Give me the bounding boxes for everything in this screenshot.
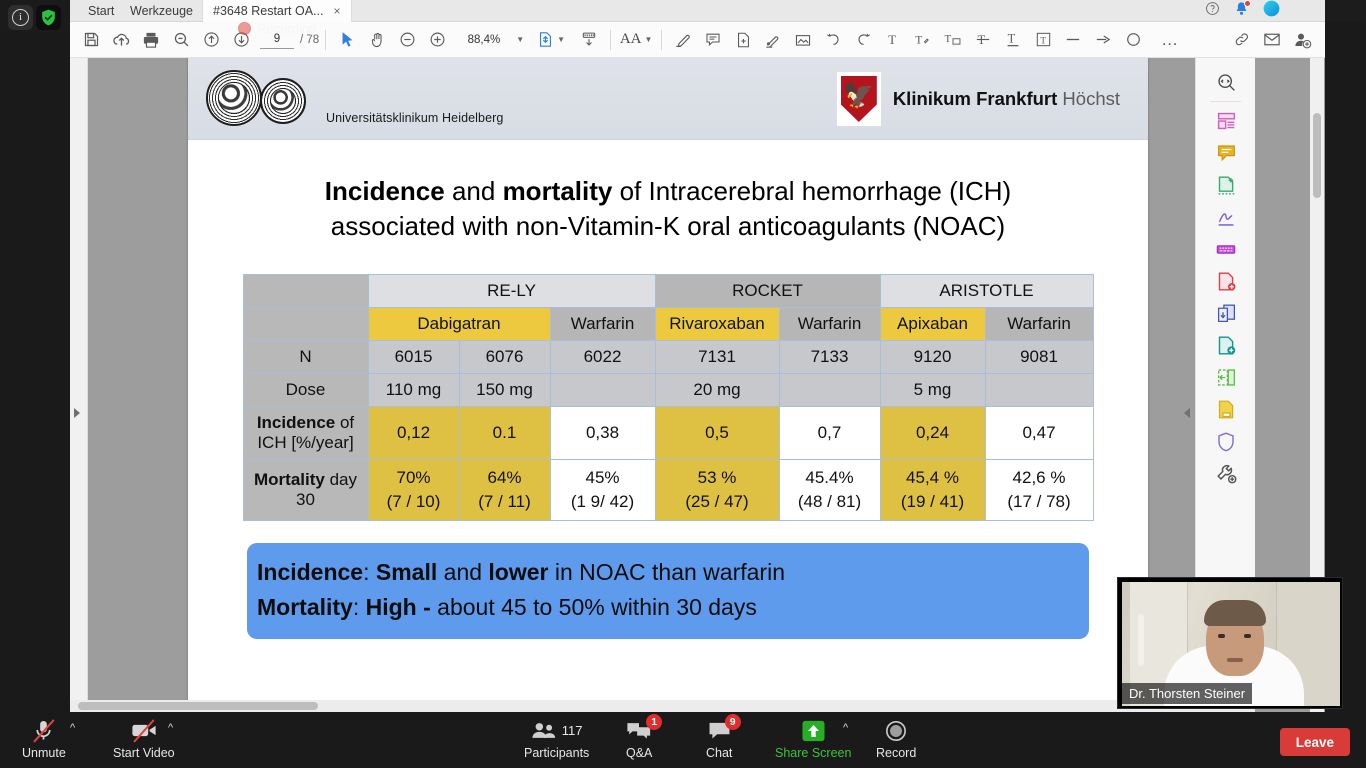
svg-text:T: T [1008, 32, 1016, 46]
summary-colon-1: : [363, 559, 376, 585]
security-shield-button[interactable] [36, 5, 61, 30]
summary-incidence-label: Incidence [257, 559, 363, 585]
drug-apixaban: Apixaban [880, 308, 985, 341]
tab-start-label: Start [88, 4, 114, 18]
draw-icon[interactable] [758, 25, 788, 55]
combine-files-icon[interactable] [1196, 297, 1256, 329]
email-icon[interactable] [1257, 25, 1287, 55]
undo-icon[interactable] [818, 25, 848, 55]
screen-root: i You are viewing Dr. Thorsten Steiner's… [0, 0, 1366, 768]
table-row-drugs: Dabigatran Warfarin Rivaroxaban Warfarin… [243, 308, 1093, 341]
chevron-down-icon: ▼ [557, 35, 565, 44]
dose-warfarin-rely [550, 374, 655, 407]
university-name: Universitätsklinikum Heidelberg [326, 111, 503, 125]
tab-start[interactable]: Start [78, 0, 124, 22]
unmute-label: Unmute [22, 746, 66, 760]
incidence-warfarin-aristotle: 0,47 [985, 407, 1093, 460]
dose-dabigatran-150: 150 mg [459, 374, 550, 407]
stamp-tool-icon[interactable] [1196, 393, 1256, 425]
incidence-warfarin-rocket: 0,7 [779, 407, 880, 460]
line-shape-icon[interactable] [1058, 25, 1088, 55]
zoom-level-value: 88,4% [462, 34, 500, 46]
summary-and: and [437, 559, 488, 585]
mortality-pct: 64% [462, 466, 548, 490]
more-tools-panel-icon[interactable] [1196, 457, 1256, 489]
heidelberg-seal-secondary-icon [260, 78, 306, 124]
chat-label: Chat [706, 746, 732, 760]
mortality-rivaroxaban: 53 % (25 / 47) [655, 460, 779, 521]
svg-text:T: T [915, 33, 922, 46]
summary-callout: Incidence: Small and lower in NOAC than … [247, 543, 1089, 639]
mortality-warfarin-rocket: 45.4% (48 / 81) [779, 460, 880, 521]
shield-check-icon [39, 8, 58, 27]
underline-icon[interactable]: T [998, 25, 1028, 55]
mortality-pct: 45,4 % [883, 466, 983, 490]
more-tools-label: … [1161, 30, 1179, 50]
title-mid: and [445, 176, 503, 206]
next-page-icon[interactable] [226, 25, 256, 55]
svg-text:T: T [945, 33, 952, 45]
info-icon: i [12, 9, 29, 26]
trial-header-aristotle: ARISTOTLE [880, 275, 1093, 308]
n-rivaroxaban: 7131 [655, 341, 779, 374]
info-button[interactable]: i [8, 5, 33, 30]
chat-badge: 9 [725, 714, 741, 730]
tab-document[interactable]: #3648 Restart OA... × [202, 0, 352, 22]
notification-bell-icon[interactable] [1234, 1, 1249, 22]
tab-document-label: #3648 Restart OA... [213, 4, 323, 18]
panel-divider [1210, 101, 1241, 102]
tab-werkzeuge-label: Werkzeuge [130, 4, 193, 18]
close-icon[interactable]: × [333, 4, 340, 18]
chevron-down-icon: ▼ [516, 35, 524, 44]
expand-left-panel-icon[interactable] [74, 408, 80, 418]
attach-image-icon[interactable] [788, 25, 818, 55]
summary-line-2: Mortality: High - about 45 to 50% within… [257, 590, 1079, 625]
drug-rivaroxaban: Rivaroxaban [655, 308, 779, 341]
summary-mortality-label: Mortality [257, 594, 353, 620]
video-options-chevron-icon[interactable]: ^ [168, 722, 173, 768]
klinikum-name-light: Höchst [1062, 88, 1120, 109]
pdf-toolbar: 9 / 78 88,4% ▼ [70, 22, 1325, 58]
drug-warfarin-3: Warfarin [985, 308, 1093, 341]
n-dabigatran-110: 6015 [368, 341, 459, 374]
trial-header-rely: RE-LY [368, 275, 655, 308]
mortality-ratio: (7 / 10) [371, 490, 457, 514]
klinikum-shield-icon: 🦅 [837, 72, 881, 126]
avatar[interactable] [1263, 0, 1280, 22]
qa-badge: 1 [646, 714, 662, 730]
mortality-pct: 70% [371, 466, 457, 490]
mortality-pct: 45% [553, 466, 653, 490]
page-number-input[interactable]: 9 [260, 30, 294, 49]
qa-label: Q&A [626, 746, 652, 760]
horizontal-scrollbar[interactable] [70, 700, 1255, 712]
title-bold-incidence: Incidence [325, 176, 445, 206]
title-rest: of Intracerebral hemorrhage (ICH) [612, 176, 1011, 206]
table-row-n: N 6015 6076 6022 7131 7133 9120 9081 [243, 341, 1093, 374]
mortality-ratio: (25 / 47) [658, 490, 777, 514]
pdf-page: Universitätsklinikum Heidelberg 🦅 Klinik… [188, 58, 1148, 712]
klinikum-name-bold: Klinikum Frankfurt [893, 88, 1057, 109]
row-header-mortality-bold: Mortality [254, 470, 325, 489]
chevron-down-icon: ▼ [644, 35, 652, 44]
add-text-icon[interactable]: T [878, 25, 908, 55]
share-screen-button[interactable]: Share Screen [775, 718, 851, 764]
mortality-ratio: (17 / 78) [988, 490, 1091, 514]
window-corner-controls: i [0, 0, 70, 32]
highlight-icon[interactable] [668, 25, 698, 55]
dose-dabigatran-110: 110 mg [368, 374, 459, 407]
protect-icon[interactable] [1196, 425, 1256, 457]
row-header-incidence-bold: Incidence [257, 413, 335, 432]
toolbar-divider [325, 30, 326, 50]
share-link-icon[interactable] [1227, 25, 1257, 55]
tab-werkzeuge[interactable]: Werkzeuge [120, 0, 203, 22]
mortality-pct: 45.4% [782, 466, 878, 490]
export-pdf-icon[interactable] [1196, 169, 1256, 201]
participants-icon: 117 [531, 718, 583, 743]
incidence-dabigatran-150: 0.1 [459, 407, 550, 460]
drug-dabigatran: Dabigatran [368, 308, 550, 341]
toolbar-divider [610, 30, 611, 50]
mortality-ratio: (1 9/ 42) [553, 490, 653, 514]
summary-rest-2: about 45 to 50% within 30 days [431, 594, 757, 620]
slide-header: Universitätsklinikum Heidelberg 🦅 Klinik… [188, 58, 1148, 140]
share-screen-label: Share Screen [775, 746, 851, 760]
klinikum-name: Klinikum Frankfurt Höchst [893, 88, 1120, 110]
search-document-icon[interactable] [1196, 66, 1256, 98]
trial-header-rocket: ROCKET [655, 275, 880, 308]
left-navigation-rail [70, 58, 88, 712]
record-button[interactable]: Record [876, 718, 916, 764]
zoom-in-icon[interactable] [422, 25, 452, 55]
page-total-label: / 78 [300, 34, 319, 46]
n-dabigatran-150: 6076 [459, 341, 550, 374]
strikethrough-icon[interactable]: T [968, 25, 998, 55]
incidence-apixaban: 0,24 [880, 407, 985, 460]
participants-button[interactable]: 117 Participants [524, 718, 589, 764]
presenter-name-label: Dr. Thorsten Steiner [1122, 683, 1252, 704]
summary-lower: lower [488, 559, 548, 585]
dose-warfarin-rocket [779, 374, 880, 407]
zoom-level-control[interactable]: 88,4% ▼ [462, 34, 524, 46]
mortality-dabigatran-110: 70% (7 / 10) [368, 460, 459, 521]
compress-pdf-icon[interactable] [1196, 361, 1256, 393]
stamp-icon[interactable] [728, 25, 758, 55]
previous-page-icon[interactable] [196, 25, 226, 55]
leave-button[interactable]: Leave [1280, 728, 1350, 756]
save-icon[interactable] [76, 25, 106, 55]
zoom-control-bar: Unmute ^ Start Video ^ [0, 712, 1366, 768]
comment-tool-icon[interactable] [1196, 137, 1256, 169]
organize-pages-icon[interactable] [1196, 105, 1256, 137]
incidence-dabigatran-110: 0,12 [368, 407, 459, 460]
select-tool-icon[interactable] [332, 25, 362, 55]
cloud-upload-icon[interactable] [106, 25, 136, 55]
text-callout-icon[interactable]: T [938, 25, 968, 55]
notification-dot [1244, 0, 1251, 7]
svg-text:T: T [978, 33, 986, 47]
edit-pdf-icon[interactable] [1196, 329, 1256, 361]
heidelberg-seal-icon [206, 70, 262, 126]
mortality-pct: 53 % [658, 466, 777, 490]
redact-icon[interactable] [1196, 233, 1256, 265]
app-top-right-controls [1205, 0, 1325, 22]
row-header-dose: Dose [243, 374, 368, 407]
mortality-apixaban: 45,4 % (19 / 41) [880, 460, 985, 521]
add-user-icon[interactable] [1287, 25, 1317, 55]
text-size-label: AA [620, 31, 642, 48]
table-row-mortality: Mortality day 30 70% (7 / 10) 64% (7 / 1… [243, 460, 1093, 521]
start-video-label: Start Video [113, 746, 175, 760]
zoom-out-icon[interactable] [392, 25, 422, 55]
n-warfarin-aristotle: 9081 [985, 341, 1093, 374]
video-camera-off-icon [131, 718, 157, 743]
audio-options-chevron-icon[interactable]: ^ [70, 722, 75, 768]
help-icon[interactable] [1205, 1, 1220, 21]
collapse-right-panel-icon[interactable] [1184, 408, 1190, 418]
print-icon[interactable] [136, 25, 166, 55]
table-row-trials: RE-LY ROCKET ARISTOTLE [243, 275, 1093, 308]
mortality-warfarin-aristotle: 42,6 % (17 / 78) [985, 460, 1093, 521]
text-comment-icon[interactable]: T [908, 25, 938, 55]
leave-label: Leave [1296, 735, 1334, 750]
page-navigation: 9 / 78 [260, 30, 319, 49]
row-header-incidence: Incidence of ICH [%/year] [243, 407, 368, 460]
toolbar-divider [661, 30, 662, 50]
qa-icon: 1 [626, 718, 652, 743]
share-screen-icon [801, 718, 826, 743]
mortality-warfarin-rely: 45% (1 9/ 42) [550, 460, 655, 521]
presenter-video-thumbnail[interactable]: Dr. Thorsten Steiner [1117, 577, 1343, 709]
incidence-rivaroxaban: 0,5 [655, 407, 779, 460]
summary-small: Small [376, 559, 437, 585]
mortality-ratio: (48 / 81) [782, 490, 878, 514]
dose-rivaroxaban: 20 mg [655, 374, 779, 407]
unmute-button[interactable]: Unmute [22, 718, 66, 764]
n-warfarin-rely: 6022 [550, 341, 655, 374]
page-fit-icon[interactable]: ▼ [536, 25, 566, 55]
dose-apixaban: 5 mg [880, 374, 985, 407]
table-row-incidence: Incidence of ICH [%/year] 0,12 0.1 0,38 … [243, 407, 1093, 460]
chat-icon: 9 [708, 718, 731, 743]
ich-trials-table: RE-LY ROCKET ARISTOTLE Dabigatran Warfar… [243, 274, 1094, 521]
hand-tool-icon[interactable] [362, 25, 392, 55]
pdf-tab-bar: Start Werkzeuge #3648 Restart OA... × [70, 0, 1325, 22]
row-header-mortality: Mortality day 30 [243, 460, 368, 521]
n-warfarin-rocket: 7133 [779, 341, 880, 374]
arrow-shape-icon[interactable] [1088, 25, 1118, 55]
drug-warfarin-1: Warfarin [550, 308, 655, 341]
participants-count: 117 [562, 723, 583, 738]
mortality-dabigatran-150: 64% (7 / 11) [459, 460, 550, 521]
fill-and-sign-icon[interactable] [1196, 201, 1256, 233]
svg-text:T: T [888, 33, 896, 47]
table-row-dose: Dose 110 mg 150 mg 20 mg 5 mg [243, 374, 1093, 407]
create-pdf-icon[interactable] [1196, 265, 1256, 297]
svg-text:T: T [1040, 36, 1046, 46]
more-tools-icon[interactable]: … [1148, 25, 1192, 55]
scroll-mode-icon[interactable] [574, 25, 604, 55]
summary-line-1: Incidence: Small and lower in NOAC than … [257, 555, 1079, 590]
horizontal-scroll-thumb[interactable] [78, 702, 318, 710]
microphone-muted-icon [33, 718, 54, 743]
title-bold-mortality: mortality [503, 176, 613, 206]
table-corner-cell-2 [243, 308, 368, 341]
summary-colon-2: : [353, 594, 366, 620]
slide-title: Incidence and mortality of Intracerebral… [228, 174, 1108, 244]
summary-high: High - [366, 594, 431, 620]
record-icon [885, 718, 907, 743]
ellipse-shape-icon[interactable] [1118, 25, 1148, 55]
summary-rest-1: in NOAC than warfarin [549, 559, 785, 585]
drug-warfarin-2: Warfarin [779, 308, 880, 341]
mortality-ratio: (7 / 11) [462, 490, 548, 514]
redo-icon[interactable] [848, 25, 878, 55]
record-label: Record [876, 746, 916, 760]
klinikum-logo: 🦅 Klinikum Frankfurt Höchst [837, 72, 1120, 126]
table-corner-cell [243, 275, 368, 308]
n-apixaban: 9120 [880, 341, 985, 374]
incidence-warfarin-rely: 0,38 [550, 407, 655, 460]
row-header-n: N [243, 341, 368, 374]
comment-icon[interactable] [698, 25, 728, 55]
participants-label: Participants [524, 746, 589, 760]
start-video-button[interactable]: Start Video [113, 718, 175, 764]
mortality-pct: 42,6 % [988, 466, 1091, 490]
chat-button[interactable]: 9 Chat [706, 718, 732, 764]
text-box-icon[interactable]: T [1028, 25, 1058, 55]
dose-warfarin-aristotle [985, 374, 1093, 407]
qa-button[interactable]: 1 Q&A [626, 718, 652, 764]
mortality-ratio: (19 / 41) [883, 490, 983, 514]
share-options-chevron-icon[interactable]: ^ [843, 722, 848, 768]
text-size-icon[interactable]: AA ▼ [617, 25, 655, 55]
vertical-scroll-thumb[interactable] [1313, 113, 1321, 198]
title-line-2: associated with non-Vitamin-K oral antic… [331, 211, 1005, 241]
zoom-search-icon[interactable] [166, 25, 196, 55]
